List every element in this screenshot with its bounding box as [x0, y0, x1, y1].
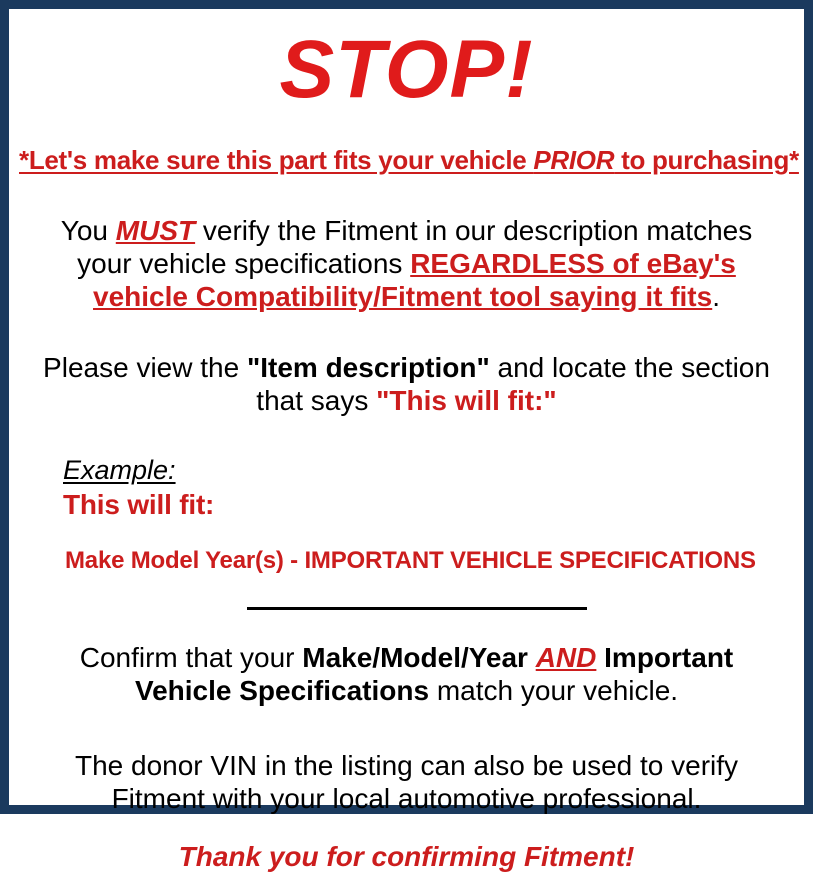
paragraph-3-segment-3 — [596, 642, 604, 673]
subtitle-text-after: to purchasing* — [614, 145, 799, 175]
page-title: STOP! — [19, 29, 794, 111]
section-divider — [247, 607, 587, 610]
subtitle-emphasis-prior: PRIOR — [533, 145, 614, 175]
emphasis-must: MUST — [116, 215, 195, 246]
subtitle-text-before: *Let's make sure this part fits your veh… — [19, 145, 533, 175]
emphasis-item-description: "Item description" — [247, 352, 490, 383]
example-label: Example: — [63, 455, 176, 486]
divider-wrap — [19, 597, 794, 615]
paragraph-1-segment-3: . — [712, 281, 720, 312]
paragraph-item-description: Please view the "Item description" and l… — [19, 351, 794, 417]
example-spec-line: Make Model Year(s) - IMPORTANT VEHICLE S… — [65, 547, 794, 575]
paragraph-3-segment-1: Confirm that your — [80, 642, 303, 673]
paragraph-2-segment-1: Please view the — [43, 352, 247, 383]
paragraph-3-segment-4: match your vehicle. — [429, 675, 678, 706]
fitment-notice-card: STOP! *Let's make sure this part fits yo… — [0, 0, 813, 814]
thank-you-message: Thank you for confirming Fitment! — [19, 841, 794, 873]
paragraph-1-segment-1: You — [61, 215, 116, 246]
paragraph-3-segment-2 — [528, 642, 536, 673]
emphasis-this-will-fit: "This will fit:" — [376, 385, 557, 416]
example-fit-heading: This will fit: — [63, 489, 794, 521]
example-label-row: Example: — [63, 455, 794, 486]
example-block: Example: This will fit: Make Model Year(… — [19, 455, 794, 575]
paragraph-donor-vin: The donor VIN in the listing can also be… — [19, 749, 794, 815]
paragraph-verify-fitment: You MUST verify the Fitment in our descr… — [19, 214, 794, 313]
emphasis-make-model-year: Make/Model/Year — [302, 642, 528, 673]
subtitle-banner: *Let's make sure this part fits your veh… — [19, 145, 794, 176]
paragraph-confirm-match: Confirm that your Make/Model/Year AND Im… — [19, 641, 794, 707]
fitment-notice-body: STOP! *Let's make sure this part fits yo… — [9, 9, 804, 805]
emphasis-and: AND — [536, 642, 597, 673]
